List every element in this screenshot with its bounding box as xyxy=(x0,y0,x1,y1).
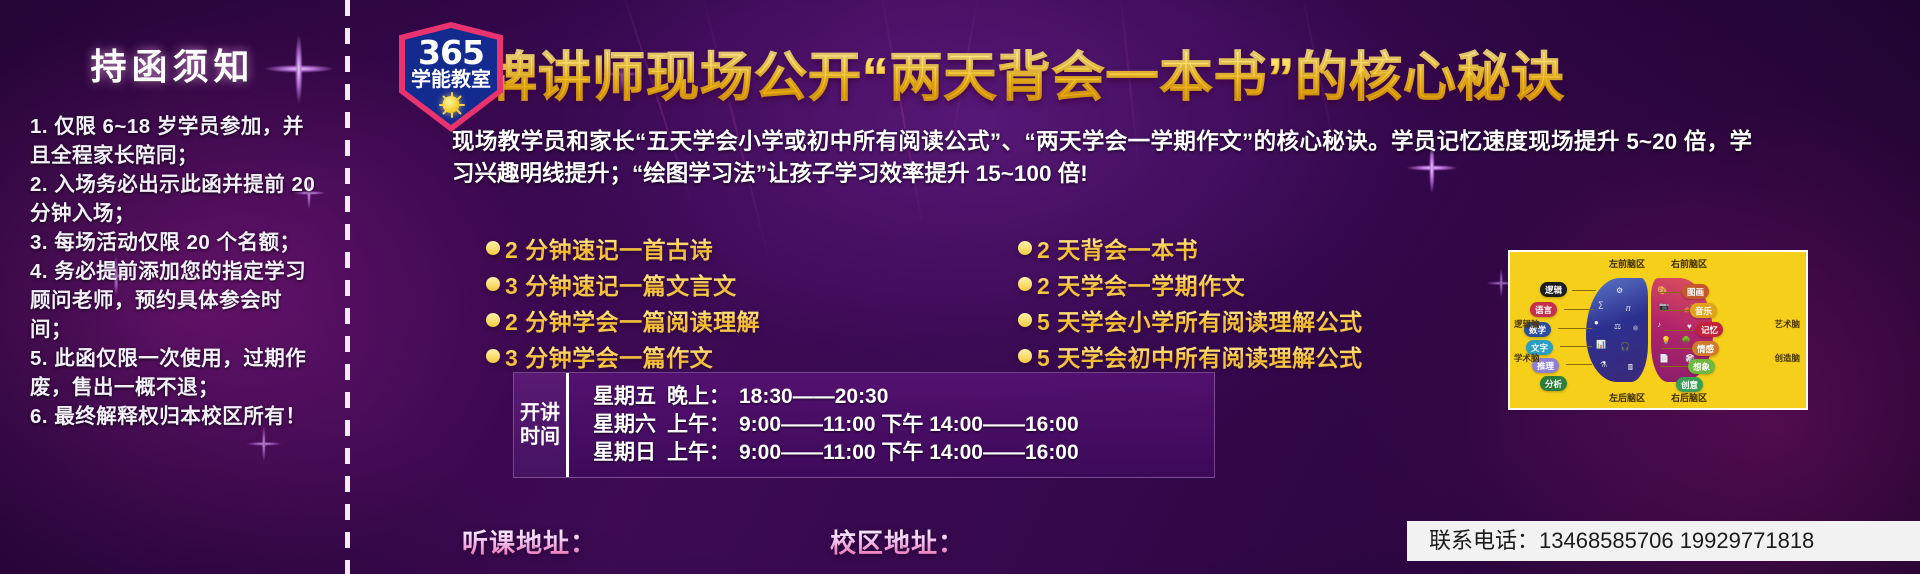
brain-leader-line xyxy=(1662,348,1692,349)
schedule-row: 星期日上午：9:00——11:00 下午 14:00——16:00 xyxy=(593,439,1214,467)
brain-pill-right: 音乐 xyxy=(1690,303,1717,318)
brand-logo: 365 学能教室 xyxy=(399,22,503,132)
intro-paragraph: 现场教学员和家长“五天学会小学或初中所有阅读公式”、“两天学会一学期作文”的核心… xyxy=(452,126,1752,190)
brain-pill-right: 想象 xyxy=(1688,359,1715,374)
brain-leader-line xyxy=(1662,310,1690,311)
benefit-label: 2 分钟速记一首古诗 xyxy=(505,231,713,265)
page-title: 金牌讲师现场公开“两天背会一本书”的核心秘诀 xyxy=(430,44,1900,112)
brain-leader-line xyxy=(1664,330,1694,331)
schedule-times: 9:00——11:00 下午 14:00——16:00 xyxy=(739,413,1079,436)
brain-leader-line xyxy=(1558,328,1592,329)
brain-bottom-labels: 左后脑区 右后脑区 xyxy=(1510,391,1806,404)
benefit-item: 2 天学会一学期作文 xyxy=(1018,268,1363,300)
logo-name: 学能教室 xyxy=(399,70,503,90)
brain-side-label-right: 艺术脑 xyxy=(1774,318,1800,330)
benefit-item: 5 天学会初中所有阅读理解公式 xyxy=(1018,340,1363,372)
benefits-list-left: 2 分钟速记一首古诗 3 分钟速记一篇文言文 2 分钟学会一篇阅读理解 3 分钟… xyxy=(486,232,760,376)
bullet-dot-icon xyxy=(486,313,500,327)
left-panel-title: 持函须知 xyxy=(0,38,345,90)
logo-number: 365 xyxy=(399,36,503,69)
brain-pill-right: 图画 xyxy=(1682,284,1709,299)
campus-address-label: 校区地址： xyxy=(830,523,965,560)
rule-item: 6. 最终解释权归本校区所有！ xyxy=(30,402,321,431)
brain-leader-line xyxy=(1566,364,1592,365)
class-address-label: 听课地址： xyxy=(462,523,597,560)
benefit-label: 2 天学会一学期作文 xyxy=(1037,267,1245,301)
schedule-day: 星期六 xyxy=(593,411,667,439)
brain-label-bottom-right: 右后脑区 xyxy=(1671,391,1707,404)
brain-side-label-left: 学术脑 xyxy=(1514,352,1540,364)
rule-item: 5. 此函仅限一次使用，过期作废，售出一概不退； xyxy=(30,344,321,402)
bullet-dot-icon xyxy=(1018,349,1032,363)
schedule-row: 星期六上午：9:00——11:00 下午 14:00——16:00 xyxy=(593,411,1214,439)
lightbulb-icon xyxy=(443,96,460,113)
rule-item: 4. 务必提前添加您的指定学习顾问老师，预约具体参会时间； xyxy=(30,257,321,344)
brain-leader-line xyxy=(1572,290,1596,291)
brain-leader-line xyxy=(1560,346,1592,347)
brain-pill-right: 记忆 xyxy=(1696,322,1723,337)
brain-side-label-right: 创造脑 xyxy=(1774,352,1800,364)
left-notice-panel: 持函须知 1. 仅限 6~18 岁学员参加，并且全程家长陪同； 2. 入场务必出… xyxy=(0,0,345,574)
contact-phone-bar: 联系电话：13468585706 19929771818 xyxy=(1407,521,1920,561)
brain-leader-line xyxy=(1660,366,1688,367)
schedule-box: 开讲时间 星期五晚上：18:30——20:30 星期六上午：9:00——11:0… xyxy=(513,372,1215,478)
benefit-item: 3 分钟速记一篇文言文 xyxy=(486,268,760,300)
benefit-item: 2 天背会一本书 xyxy=(1018,232,1363,264)
bullet-dot-icon xyxy=(486,349,500,363)
benefit-label: 5 天学会小学所有阅读理解公式 xyxy=(1037,303,1363,337)
benefit-label: 2 分钟学会一篇阅读理解 xyxy=(505,303,760,337)
benefit-label: 5 天学会初中所有阅读理解公式 xyxy=(1037,339,1363,373)
brain-pill-left: 逻辑 xyxy=(1540,282,1567,297)
schedule-period: 晚上： xyxy=(667,383,739,411)
brain-pill-left: 语言 xyxy=(1530,302,1557,317)
schedule-period: 上午： xyxy=(667,411,739,439)
bullet-dot-icon xyxy=(1018,313,1032,327)
promo-poster: 持函须知 1. 仅限 6~18 岁学员参加，并且全程家长陪同； 2. 入场务必出… xyxy=(0,0,1920,574)
brain-leader-line xyxy=(1564,309,1594,310)
benefit-item: 2 分钟速记一首古诗 xyxy=(486,232,760,264)
brain-pill-right: 情感 xyxy=(1692,341,1719,356)
schedule-rows: 星期五晚上：18:30——20:30 星期六上午：9:00——11:00 下午 … xyxy=(569,373,1214,477)
left-panel-rules: 1. 仅限 6~18 岁学员参加，并且全程家长陪同； 2. 入场务必出示此函并提… xyxy=(30,112,321,431)
schedule-times: 18:30——20:30 xyxy=(739,385,888,408)
brain-label-top-right: 右前脑区 xyxy=(1671,257,1707,270)
brain-side-label-left: 逻辑脑 xyxy=(1514,318,1540,330)
brain-pill-left: 分析 xyxy=(1540,376,1567,391)
brain-left-hemisphere: ⚙ ∑ 𝜋 ● ⚖ ⚛ 📊 🎧 ⚗ 🖩 xyxy=(1586,278,1648,382)
benefit-label: 3 分钟学会一篇作文 xyxy=(505,339,713,373)
schedule-day: 星期日 xyxy=(593,439,667,467)
bullet-dot-icon xyxy=(1018,277,1032,291)
schedule-row: 星期五晚上：18:30——20:30 xyxy=(593,383,1214,411)
brain-pill-right: 创意 xyxy=(1676,377,1703,392)
brain-leader-line xyxy=(1658,292,1682,293)
brain-top-labels: 左前脑区 右前脑区 xyxy=(1510,257,1806,270)
schedule-label: 开讲时间 xyxy=(514,373,569,477)
bullet-dot-icon xyxy=(486,241,500,255)
benefit-item: 3 分钟学会一篇作文 xyxy=(486,340,760,372)
schedule-period: 上午： xyxy=(667,439,739,467)
benefits-list-right: 2 天背会一本书 2 天学会一学期作文 5 天学会小学所有阅读理解公式 5 天学… xyxy=(1018,232,1363,376)
benefit-item: 2 分钟学会一篇阅读理解 xyxy=(486,304,760,336)
schedule-day: 星期五 xyxy=(593,383,667,411)
benefit-label: 3 分钟速记一篇文言文 xyxy=(505,267,737,301)
schedule-times: 9:00——11:00 下午 14:00——16:00 xyxy=(739,441,1079,464)
rule-item: 3. 每场活动仅限 20 个名额； xyxy=(30,228,321,257)
brain-label-bottom-left: 左后脑区 xyxy=(1609,391,1645,404)
benefit-item: 5 天学会小学所有阅读理解公式 xyxy=(1018,304,1363,336)
benefit-label: 2 天背会一本书 xyxy=(1037,231,1198,265)
rule-item: 1. 仅限 6~18 岁学员参加，并且全程家长陪同； xyxy=(30,112,321,170)
brain-diagram-image: 左前脑区 右前脑区 ⚙ ∑ 𝜋 ● ⚖ ⚛ 📊 🎧 ⚗ 🖩 🎨 ♫ 📷 🎻 ♪ … xyxy=(1508,250,1808,410)
ticket-perforation-divider xyxy=(345,0,350,574)
rule-item: 2. 入场务必出示此函并提前 20 分钟入场； xyxy=(30,170,321,228)
bullet-dot-icon xyxy=(1018,241,1032,255)
bullet-dot-icon xyxy=(486,277,500,291)
brain-label-top-left: 左前脑区 xyxy=(1609,257,1645,270)
